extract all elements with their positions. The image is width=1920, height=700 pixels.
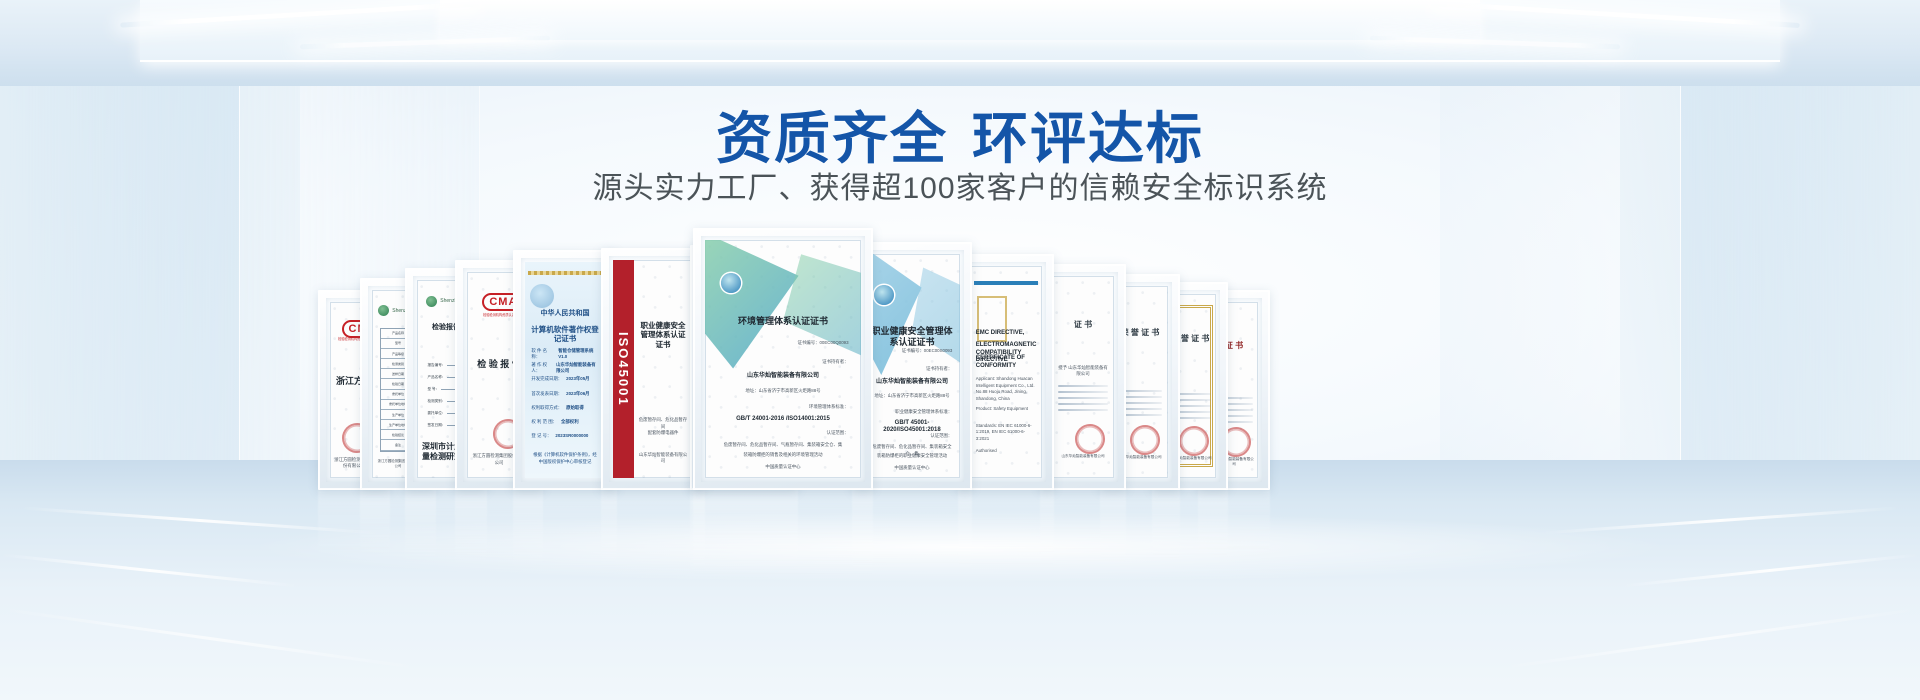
- certificate-field-label: 软 件 名 称：: [531, 348, 554, 360]
- certificate-standard-label: 环境管理体系标准：: [717, 404, 848, 411]
- certificate-env-management-cert[interactable]: 环境管理体系认证证书证书编号：00EC00Q0093证书持有者：山东华灿智能装备…: [705, 240, 861, 478]
- certificate-detail: Standards: EN IEC 61000-6-1:2019, EN IEC…: [976, 423, 1037, 443]
- certification-body-logo-icon: [721, 273, 741, 293]
- certificate-software-copyright[interactable]: 中华人民共和国计算机软件著作权登记证书软 件 名 称：智能仓储管理系统 V1.0…: [525, 262, 605, 478]
- certificate-text-lines: [1058, 385, 1108, 411]
- certificate-mat: ISO45001职业健康安全管理体系认证证书危废暂存间、危化品暂存间配套防爆电器…: [609, 256, 697, 482]
- certificate-detail: Product: Safety Equipment: [976, 406, 1037, 413]
- ceiling-center-panel: [440, 0, 1480, 40]
- certificate-footer: 山东华灿智能装备有限公司: [1057, 454, 1109, 459]
- certificate-field-label: 登 记 号：: [531, 433, 551, 439]
- page-subtitle: 源头实力工厂、获得超100家客户的信赖安全标识系统: [0, 163, 1920, 207]
- certificate-number: 证书编号：00EC00Q0093: [717, 340, 848, 347]
- certificate-mat: 中华人民共和国计算机软件著作权登记证书软 件 名 称：智能仓储管理系统 V1.0…: [521, 258, 609, 482]
- certificate-border-ornament: [528, 271, 602, 275]
- certificate-standard: GB/T 24001-2016 /ISO14001:2015: [714, 416, 851, 424]
- certificate-scope-label: 认证范围：: [717, 430, 848, 437]
- certificate-field-label: 签发日期：: [427, 423, 445, 428]
- certificate-detail: Authorised: [976, 448, 1037, 455]
- certificate-scope-line2: 配套防爆电器件: [637, 430, 689, 437]
- certificate-footer: 根据《计算机软件保护条例》，经中国版权保护中心审核登记: [531, 452, 598, 465]
- certificate-field-label: 报告编号：: [427, 363, 445, 368]
- certificate-detail: No.88 Huoju Road, Jining, Shandong, Chin…: [976, 389, 1037, 402]
- certificate-field-row: 开发完成日期：2023年05月: [531, 376, 598, 382]
- certificate-mat: 职业健康安全管理体系认证证书证书编号：00EC00S0093证书持有者：山东华灿…: [860, 250, 964, 482]
- certificate-title: 环境管理体系认证证书: [714, 316, 851, 327]
- floor-light-line: [2, 608, 418, 669]
- certificate-mat: 证 书授予 山东华灿智能装备有限公司山东华灿智能装备有限公司: [1048, 272, 1118, 482]
- certificate-field-label: 委托单位：: [427, 411, 445, 416]
- certificate-address: 地址：山东省济宁市高新区火炬路88号: [717, 388, 848, 395]
- certificate-ce-doc[interactable]: EMC DIRECTIVE,ELECTROMAGNETIC COMPATIBIL…: [970, 266, 1042, 478]
- certificate-field-value: 原始取得: [566, 405, 584, 411]
- certificate-mat: 环境管理体系认证证书证书编号：00EC00Q0093证书持有者：山东华灿智能装备…: [701, 236, 865, 482]
- certificate-holder-label: 证书持有者：: [717, 359, 848, 366]
- certificate-field-label: 检测类别：: [427, 399, 445, 404]
- certificate-field-value: 2023SR0000000: [555, 433, 588, 439]
- certificate-scope-line1: 危废暂存间、危化品暂存间、气瓶暂存间、集装箱安全仓、集: [717, 442, 848, 449]
- certificate-title: 证 书: [1056, 320, 1111, 330]
- certificate-spine: ISO45001: [613, 260, 634, 478]
- floor-glow: [260, 512, 1660, 582]
- certificate-field-row: 登 记 号：2023SR0000000: [531, 433, 598, 439]
- certificate-standard-label: 职业健康安全管理体系标准：: [872, 409, 953, 416]
- certificate-ohs-management-cert[interactable]: 职业健康安全管理体系认证证书证书编号：00EC00S0093证书持有者：山东华灿…: [864, 254, 960, 478]
- certificate-iso45001[interactable]: ISO45001职业健康安全管理体系认证证书危废暂存间、危化品暂存间配套防爆电器…: [613, 260, 693, 478]
- certificate-detail: Applicant: Shandong Huacan Intelligent E…: [976, 376, 1037, 389]
- certificate-field-row: 权 利 范 围：全部权利: [531, 419, 598, 425]
- certificate-spine-label: ISO45001: [616, 332, 631, 407]
- floor: [0, 460, 1920, 700]
- certificate-mat: EMC DIRECTIVE,ELECTROMAGNETIC COMPATIBIL…: [966, 262, 1046, 482]
- lab-org-logo-icon: [378, 305, 389, 316]
- certificate-scope-line2: 装箱防爆柜的职业健康安全管理活动: [872, 453, 953, 460]
- certificate-issuer: 中国质量认证中心: [717, 464, 848, 471]
- certificate-title: 职业健康安全管理体系认证证书: [870, 326, 955, 349]
- certification-body-logo-icon: [874, 285, 894, 305]
- banner-stage: 资质齐全环评达标 源头实力工厂、获得超100家客户的信赖安全标识系统 CMA检验…: [0, 0, 1920, 700]
- certificate-scope-label: 认证范围：: [872, 433, 953, 440]
- certificate-field-row: 权利取得方式：原始取得: [531, 405, 598, 411]
- certificate-field-label: 著 作 权 人：: [531, 362, 552, 374]
- certificate-field-label: 开发完成日期：: [531, 376, 562, 382]
- certificate-field-row: 著 作 权 人：山东华灿智能装备有限公司: [531, 362, 598, 374]
- certificate-company: 山东华灿智能装备有限公司: [714, 373, 851, 381]
- certificate-title-line1: 中华人民共和国: [530, 310, 600, 319]
- certificate-honor-cert-1[interactable]: 证 书授予 山东华灿智能装备有限公司山东华灿智能装备有限公司: [1052, 276, 1114, 478]
- certificate-field-value: 全部权利: [561, 419, 579, 425]
- certificate-field-row: 软 件 名 称：智能仓储管理系统 V1.0: [531, 348, 598, 360]
- certificate-frame[interactable]: EMC DIRECTIVE,ELECTROMAGNETIC COMPATIBIL…: [958, 254, 1054, 490]
- certificate-title-line3: CERTIFICATE OF CONFORMITY: [976, 355, 1037, 370]
- certificate-number: 证书编号：00EC00S0093: [872, 348, 953, 355]
- page-title-part2: 环评达标: [972, 107, 1204, 170]
- certificate-header-rule: [974, 281, 1037, 285]
- certificate-field-label: 产品名称：: [427, 375, 445, 380]
- page-title-part1: 资质齐全: [716, 107, 948, 170]
- certificate-body: 授予 山东华灿智能装备有限公司: [1057, 365, 1109, 378]
- certificate-title-line1: EMC DIRECTIVE,: [976, 330, 1037, 338]
- certificate-field-label: 权 利 范 围：: [531, 419, 557, 425]
- certificate-holder-label: 证书持有者：: [872, 366, 953, 373]
- certificate-title: 职业健康安全管理体系认证证书: [637, 321, 689, 349]
- certificate-wall: CMA检验检测机构资质认定浙江方圆浙江方圆检测集团股份有限公司Shenzhen产…: [0, 228, 1920, 490]
- certificate-field-label: 权利取得方式：: [531, 405, 562, 411]
- certificate-address: 地址：山东省济宁市高新区火炬路88号: [872, 393, 953, 400]
- certificate-field-label: 首次发表日期：: [531, 391, 562, 397]
- certificate-scope-line2: 装箱防爆柜的销售及相关的环境管理活动: [717, 452, 848, 459]
- national-emblem-icon: [530, 284, 554, 308]
- certificate-field-value: 山东华灿智能装备有限公司: [556, 362, 599, 374]
- certificate-frame[interactable]: 环境管理体系认证证书证书编号：00EC00Q0093证书持有者：山东华灿智能装备…: [693, 228, 873, 490]
- certificate-title-line2: 计算机软件著作权登记证书: [530, 325, 600, 344]
- floor-light-line: [1621, 553, 1920, 587]
- certificate-field-label: 型 号：: [427, 387, 439, 392]
- floor-light-line: [1502, 608, 1918, 669]
- certificate-field-value: 智能仓储管理系统 V1.0: [558, 348, 598, 360]
- ceiling: [0, 0, 1920, 86]
- certificate-field-row: 首次发表日期：2023年06月: [531, 391, 598, 397]
- lab-org-logo-icon: [426, 296, 437, 307]
- certificate-issuer: 中国质量认证中心: [872, 465, 953, 472]
- certificate-company: 山东华灿智能装备有限公司: [637, 452, 689, 465]
- certificate-field-value: 2023年05月: [566, 376, 589, 382]
- certificate-company: 山东华灿智能装备有限公司: [870, 379, 955, 387]
- floor-light-line: [1, 553, 300, 587]
- certificate-scope-line1: 危废暂存间、危化品暂存间: [637, 417, 689, 430]
- certificate-field-value: 2023年06月: [566, 391, 589, 397]
